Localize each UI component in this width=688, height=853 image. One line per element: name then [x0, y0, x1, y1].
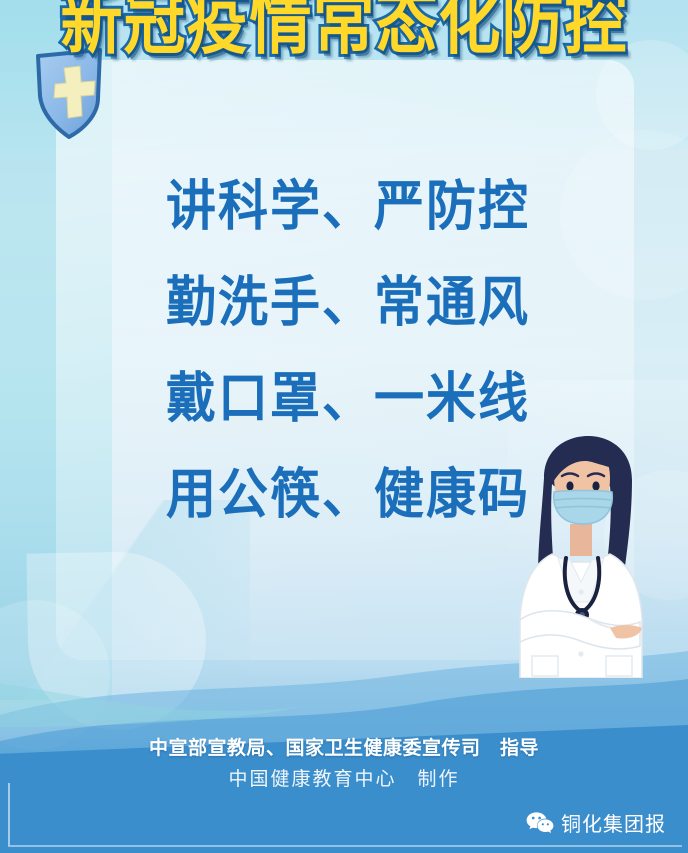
poster-title-container: 新冠疫情常态化防控	[0, 0, 688, 47]
wechat-icon	[526, 811, 554, 835]
poster-title: 新冠疫情常态化防控	[60, 0, 627, 59]
watermark-label: 铜化集团报	[561, 808, 666, 837]
credit-production-text: 中国健康教育中心 制作	[0, 764, 688, 791]
wechat-watermark[interactable]: 铜化集团报	[526, 808, 666, 837]
slogan-line-2: 勤洗手、常通风	[0, 250, 688, 354]
credit-guidance-text: 中宣部宣教局、国家卫生健康委宣传司 指导	[0, 733, 688, 760]
slogan-line-1: 讲科学、严防控	[0, 154, 688, 258]
female-doctor-illustration	[492, 432, 668, 678]
health-campaign-poster: 新冠疫情常态化防控 讲科学、严防控 勤洗手、常通风 戴口罩、一米线 用公筷、健康…	[0, 0, 688, 853]
